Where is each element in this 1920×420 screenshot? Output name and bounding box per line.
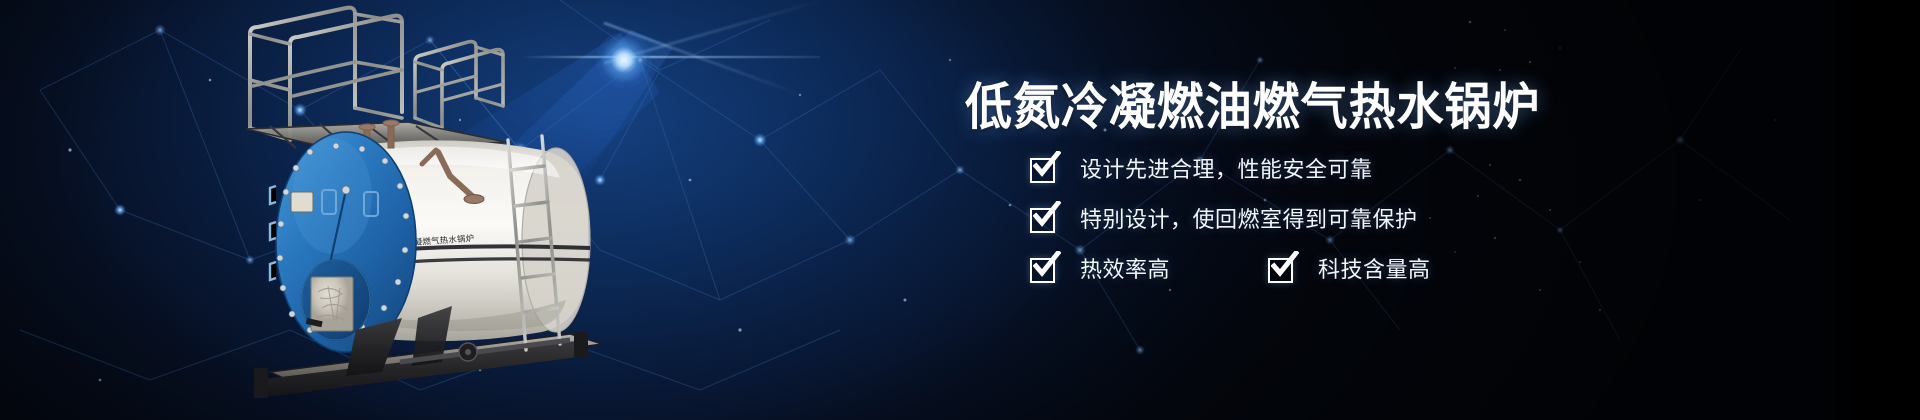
check-glyph: [1271, 251, 1299, 279]
check-glyph: [1033, 151, 1061, 179]
check-glyph: [1033, 201, 1061, 229]
checkbox-check-icon: [1030, 208, 1055, 233]
blue-front-tube-sheet: [270, 132, 416, 352]
feature-list: 设计先进合理，性能安全可靠 特别设计，使回燃室得到可靠保护: [1030, 145, 1730, 295]
banner-content: 低氮冷凝燃油燃气热水锅炉 设计先进合理，性能安全可靠: [960, 0, 1720, 420]
feature-text: 特别设计，使回燃室得到可靠保护: [1080, 209, 1418, 231]
door-hinges: [270, 186, 276, 280]
check-glyph: [1033, 251, 1061, 279]
feature-item: 热效率高: [1030, 258, 1170, 283]
right-black-strip: [1854, 0, 1920, 420]
feature-text: 科技含量高: [1318, 259, 1431, 281]
nameplate: [291, 192, 313, 212]
boiler-product-image: 低氮冷凝燃气热水锅炉: [150, 0, 670, 420]
checkbox-check-icon: [1268, 258, 1293, 283]
right-edge-fade: [1824, 0, 1854, 420]
product-banner: 低氮冷凝燃气热水锅炉: [0, 0, 1920, 420]
feature-text: 设计先进合理，性能安全可靠: [1080, 159, 1373, 181]
checkbox-check-icon: [1030, 158, 1055, 183]
feature-item: 科技含量高: [1268, 258, 1431, 283]
feature-row: 特别设计，使回燃室得到可靠保护: [1030, 195, 1730, 245]
banner-title: 低氮冷凝燃油燃气热水锅炉: [965, 76, 1661, 138]
feature-item: 特别设计，使回燃室得到可靠保护: [1030, 208, 1418, 233]
top-platform-railing: [250, 8, 503, 140]
feature-row: 设计先进合理，性能安全可靠: [1030, 145, 1730, 195]
feature-text: 热效率高: [1080, 259, 1170, 281]
checkbox-check-icon: [1030, 258, 1055, 283]
feature-row: 热效率高 科技含量高: [1030, 245, 1730, 295]
feature-item: 设计先进合理，性能安全可靠: [1030, 158, 1373, 183]
